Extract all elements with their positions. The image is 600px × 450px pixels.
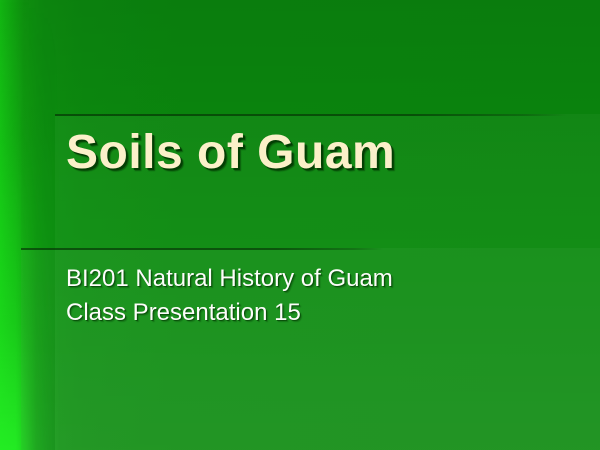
- title-panel-top-rule: [55, 114, 567, 116]
- subtitle-panel-top-rule: [21, 248, 383, 250]
- slide-subtitle: BI201 Natural History of Guam Class Pres…: [66, 262, 566, 330]
- presentation-slide: Soils of Guam BI201 Natural History of G…: [0, 0, 600, 450]
- slide-subtitle-line-2: Class Presentation 15: [66, 296, 566, 330]
- slide-title: Soils of Guam: [66, 124, 566, 182]
- slide-subtitle-line-1: BI201 Natural History of Guam: [66, 262, 566, 296]
